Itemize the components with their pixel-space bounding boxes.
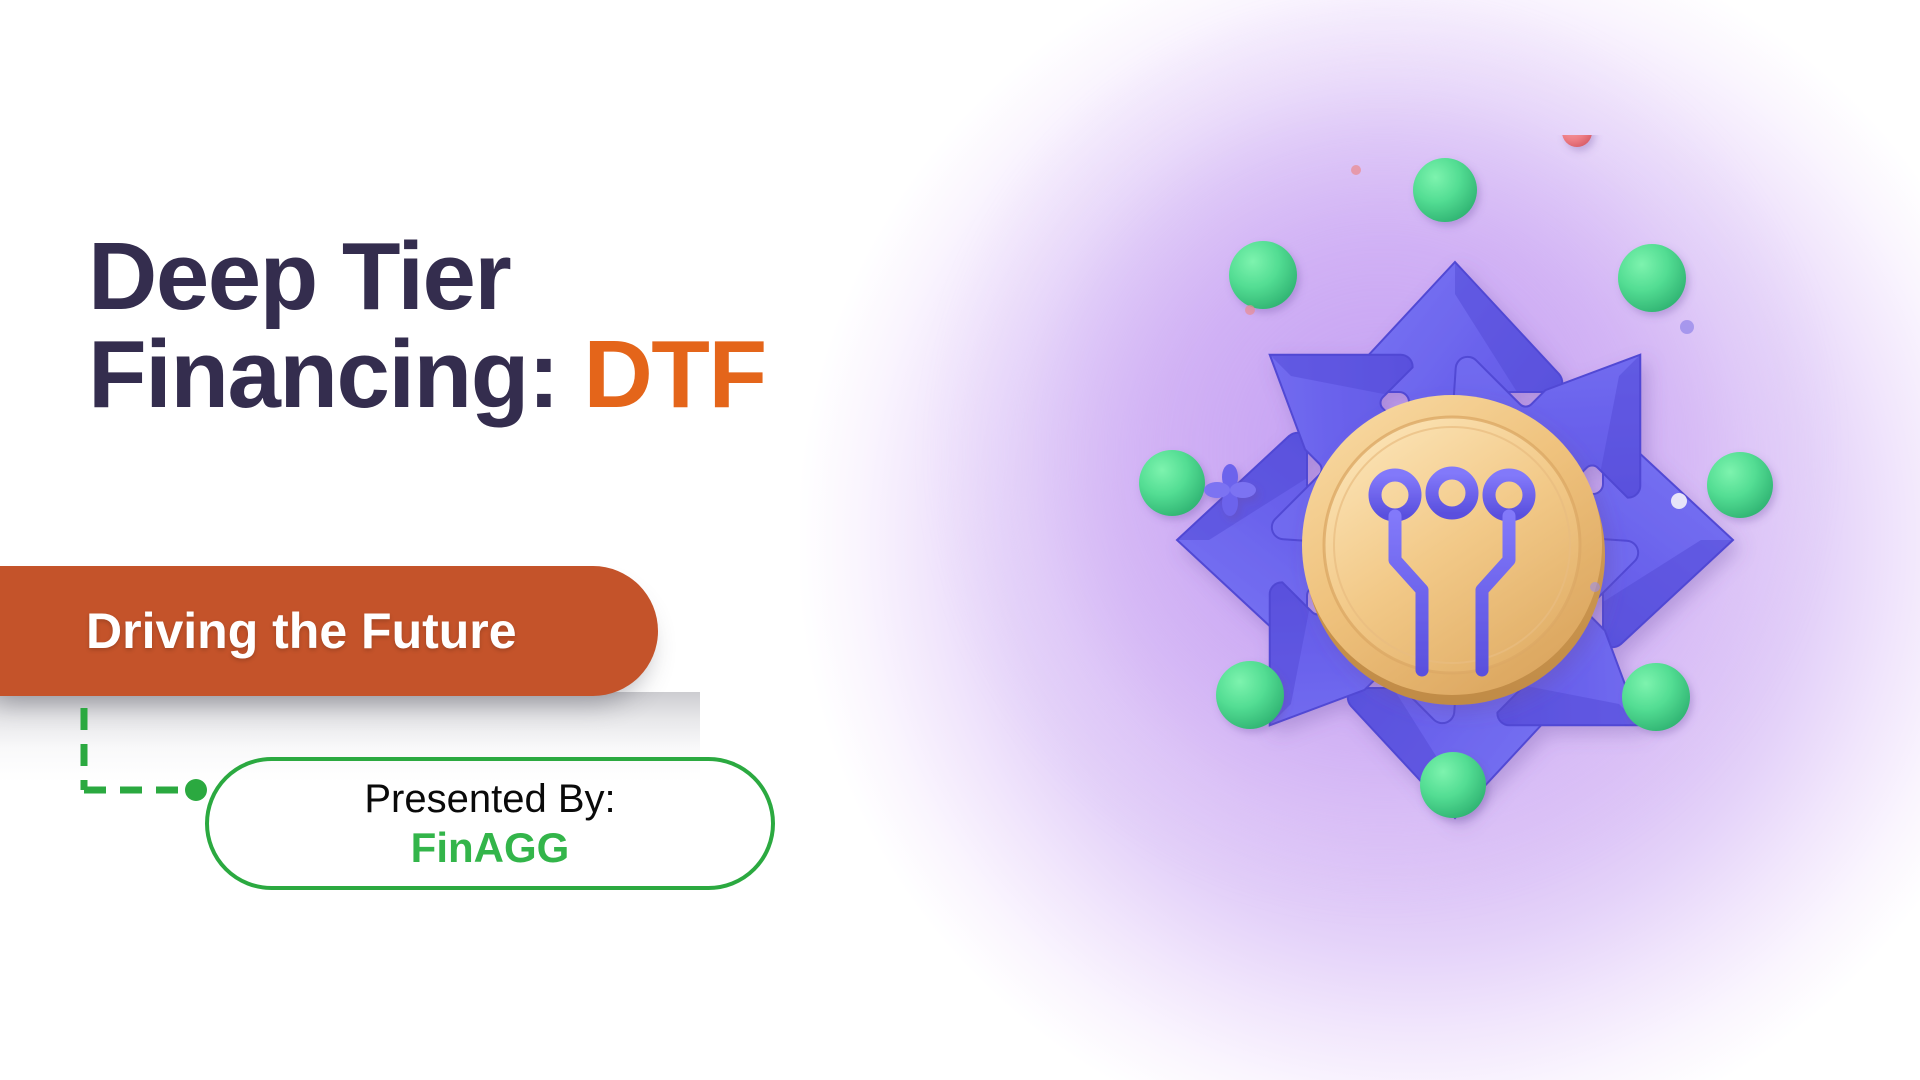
arrow-down bbox=[1348, 536, 1563, 818]
circuit-emblem bbox=[1375, 473, 1529, 672]
green-sphere bbox=[1420, 752, 1486, 818]
green-sphere bbox=[1229, 241, 1297, 309]
green-sphere bbox=[1622, 663, 1690, 731]
arrow-up-right bbox=[1383, 267, 1708, 592]
white-dot bbox=[1671, 493, 1687, 509]
presentation-slide: Deep Tier Financing: DTF Driving the Fut… bbox=[0, 0, 1920, 1080]
arrow-down-right bbox=[1403, 468, 1728, 793]
green-sphere bbox=[1618, 244, 1686, 312]
slide-title-block: Deep Tier Financing: DTF bbox=[88, 228, 788, 424]
tagline-label: Driving the Future bbox=[86, 602, 517, 660]
title-acronym-dtf: DTF bbox=[583, 321, 765, 428]
green-sphere bbox=[1707, 452, 1773, 518]
arrow-left bbox=[1177, 433, 1459, 648]
digital-coin bbox=[1302, 395, 1605, 705]
title-line-2: Financing: DTF bbox=[88, 326, 788, 424]
title-line-2-main: Financing: bbox=[88, 321, 583, 428]
blue-dot bbox=[1680, 320, 1694, 334]
green-sphere bbox=[1139, 450, 1205, 516]
pink-sphere bbox=[1562, 135, 1592, 147]
sparkle-icon bbox=[1204, 464, 1256, 516]
presenter-name: FinAGG bbox=[411, 823, 570, 873]
purple-glow-backdrop bbox=[800, 0, 1920, 1080]
green-spheres bbox=[1139, 158, 1773, 818]
connector-endpoint-dot bbox=[185, 779, 207, 801]
pink-dot bbox=[1245, 305, 1255, 315]
presented-by-pill: Presented By: FinAGG bbox=[205, 757, 775, 890]
arrow-up-left bbox=[1182, 287, 1507, 612]
accent-dots bbox=[1245, 135, 1694, 592]
pink-dot bbox=[1351, 165, 1361, 175]
tagline-banner: Driving the Future bbox=[0, 566, 658, 696]
arrow-right bbox=[1451, 433, 1733, 648]
arrow-up bbox=[1348, 262, 1563, 544]
arrow-down-left bbox=[1202, 488, 1527, 813]
illustration-panel bbox=[800, 0, 1920, 1080]
blue-dot bbox=[1590, 582, 1600, 592]
title-line-1: Deep Tier bbox=[88, 228, 788, 326]
green-sphere bbox=[1216, 661, 1284, 729]
presented-by-label: Presented By: bbox=[364, 775, 615, 823]
green-sphere bbox=[1413, 158, 1477, 222]
dtf-3d-illustration bbox=[1050, 135, 1860, 945]
purple-glow-core bbox=[920, 0, 1920, 1080]
